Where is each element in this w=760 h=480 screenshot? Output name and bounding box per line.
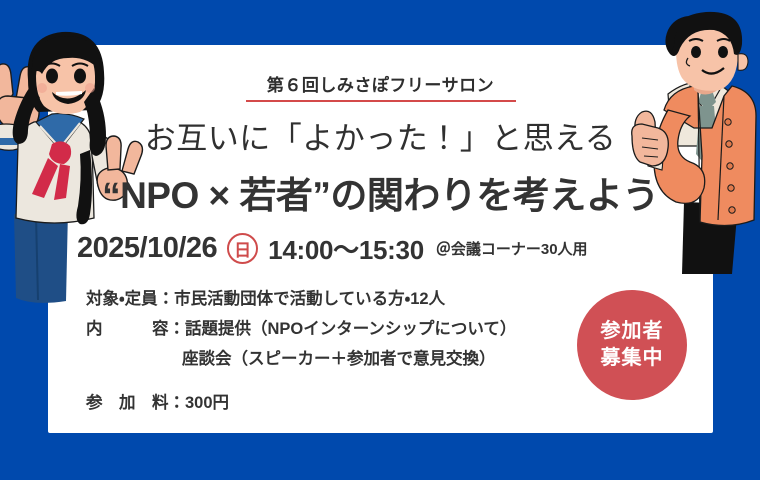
detail-label: 内 容： xyxy=(86,314,185,344)
recruiting-badge: 参加者 募集中 xyxy=(577,290,687,400)
event-subtitle: お互いに「よかった！」と思える xyxy=(48,113,713,158)
detail-value: 話題提供（NPOインターンシップについて） xyxy=(185,314,516,344)
event-poster: 第６回しみさぽフリーサロン お互いに「よかった！」と思える “NPO × 若者”… xyxy=(0,0,760,480)
detail-row: 参 加 料： 300円 xyxy=(86,388,646,418)
detail-row: 内 容： 話題提供（NPOインターンシップについて） xyxy=(86,314,646,344)
event-series-label: 第６回しみさぽフリーサロン xyxy=(48,71,713,96)
event-headline: “NPO × 若者”の関わりを考えよう xyxy=(48,165,713,219)
detail-value: 300円 xyxy=(185,388,229,418)
badge-line-1: 参加者 xyxy=(601,318,664,345)
schedule-row: 2025/10/26 日 14:00〜15:30 ＠会議コーナー30人用 xyxy=(77,230,713,267)
day-of-week-badge: 日 xyxy=(227,233,258,264)
detail-value: 座談会（スピーカー＋参加者で意見交換） xyxy=(182,344,496,374)
detail-value: 市民活動団体で活動している方・12人 xyxy=(174,284,445,314)
event-details-list: 対象・定員： 市民活動団体で活動している方・12人 内 容： 話題提供（NPOイ… xyxy=(86,284,646,418)
event-date: 2025/10/26 xyxy=(77,232,217,265)
badge-line-2: 募集中 xyxy=(601,345,664,372)
event-venue: ＠会議コーナー30人用 xyxy=(436,238,588,259)
detail-row: 座談会（スピーカー＋参加者で意見交換） xyxy=(86,344,646,374)
poster-content: 第６回しみさぽフリーサロン お互いに「よかった！」と思える “NPO × 若者”… xyxy=(48,45,713,433)
detail-row: 対象・定員： 市民活動団体で活動している方・12人 xyxy=(86,284,646,314)
detail-label: 対象・定員： xyxy=(86,284,174,314)
event-time: 14:00〜15:30 xyxy=(268,230,424,267)
eyebrow-underline xyxy=(246,100,516,102)
detail-label: 参 加 料： xyxy=(86,388,185,418)
